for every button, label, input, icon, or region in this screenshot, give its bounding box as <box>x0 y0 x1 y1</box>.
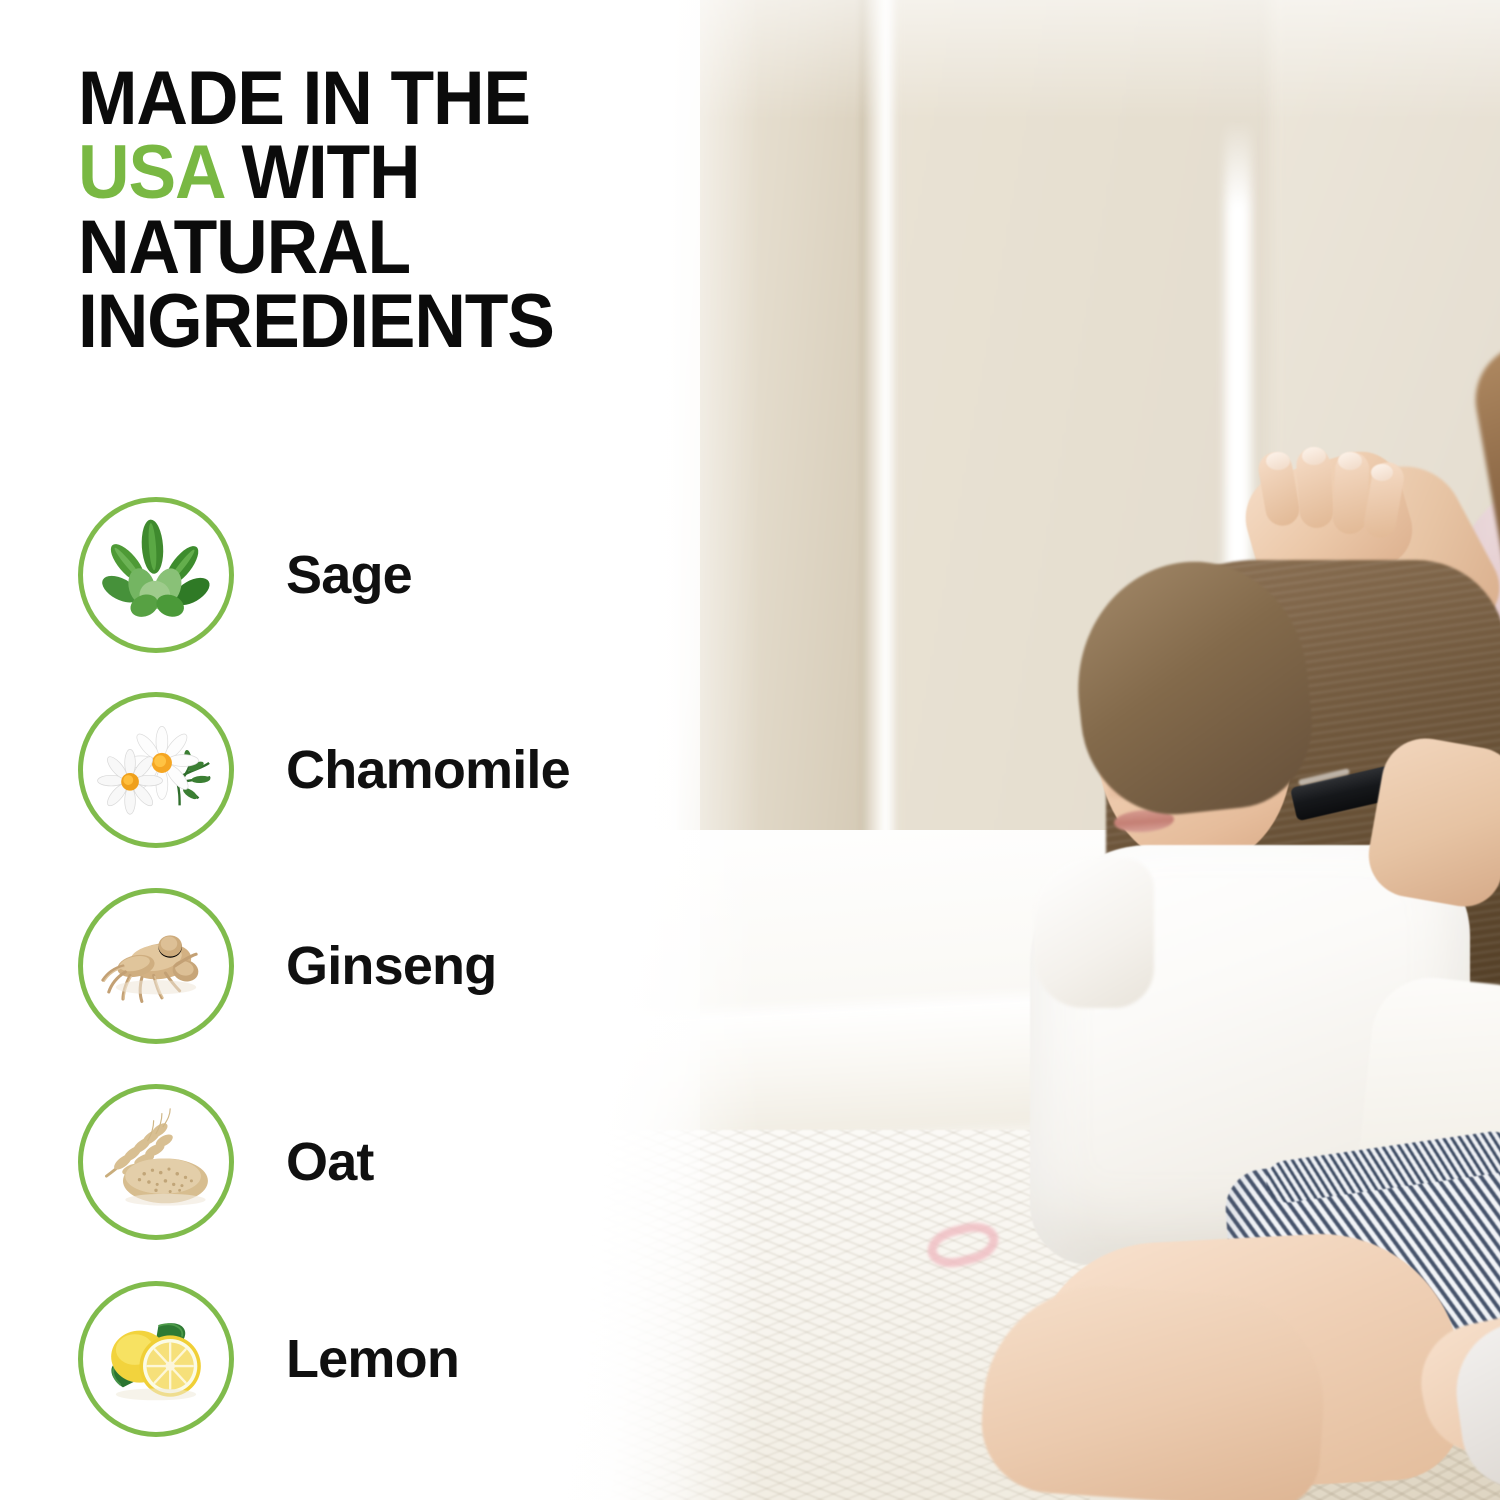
headline-line-2-rest: WITH <box>223 130 420 215</box>
ingredient-label-sage: Sage <box>286 544 412 606</box>
chamomile-flowers-icon <box>97 711 215 829</box>
ingredient-label-ginseng: Ginseng <box>286 935 496 997</box>
headline-line-4: INGREDIENTS <box>78 285 680 359</box>
ingredient-badge-lemon <box>78 1281 234 1437</box>
product-infographic: MADE IN THE USA WITH NATURAL INGREDIENTS <box>0 0 1500 1500</box>
headline-accent-usa: USA <box>78 130 223 215</box>
ingredient-label-chamomile: Chamomile <box>286 739 570 801</box>
ingredient-label-lemon: Lemon <box>286 1328 459 1390</box>
woman-fingernail <box>1266 452 1290 470</box>
ingredient-row-chamomile: Chamomile <box>78 692 678 848</box>
headline: MADE IN THE USA WITH NATURAL INGREDIENTS <box>78 62 680 360</box>
woman-fingernail <box>1338 452 1362 470</box>
ingredient-badge-ginseng <box>78 888 234 1044</box>
headline-line-1: MADE IN THE <box>78 62 680 136</box>
ingredient-row-sage: Sage <box>78 497 678 653</box>
ingredient-badge-oat <box>78 1084 234 1240</box>
ingredient-row-oat: Oat <box>78 1084 678 1240</box>
oat-grain-icon <box>97 1103 215 1221</box>
ingredient-row-ginseng: Ginseng <box>78 888 678 1044</box>
ginseng-root-icon <box>97 907 215 1025</box>
ingredient-label-oat: Oat <box>286 1131 374 1193</box>
ingredient-badge-sage <box>78 497 234 653</box>
headline-line-2: USA WITH <box>78 136 680 210</box>
child-shirt-ruffle <box>1034 858 1154 1008</box>
ingredient-badge-chamomile <box>78 692 234 848</box>
ingredient-row-lemon: Lemon <box>78 1281 678 1437</box>
sage-leaves-icon <box>97 516 215 634</box>
headline-line-3: NATURAL <box>78 211 680 285</box>
headline-line-1-text: MADE IN THE <box>78 56 530 141</box>
woman-fingernail <box>1371 464 1393 481</box>
headline-line-3-text: NATURAL <box>78 205 410 290</box>
woman-fingernail <box>1302 447 1326 465</box>
headline-line-4-text: INGREDIENTS <box>78 279 554 364</box>
lemon-fruit-icon <box>97 1300 215 1418</box>
